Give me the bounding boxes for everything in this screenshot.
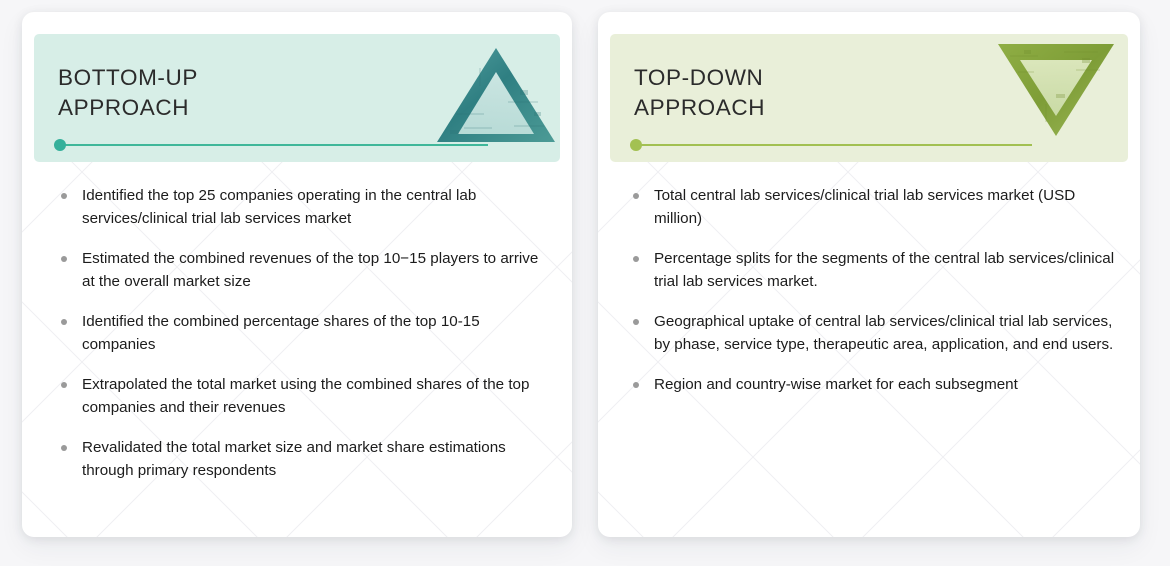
list-item-text: Percentage splits for the segments of th… xyxy=(654,250,1114,290)
list-item-text: Identified the combined percentage share… xyxy=(82,313,480,353)
top-down-header-dot xyxy=(630,139,642,151)
bullet-dot-icon xyxy=(61,382,67,388)
list-item-text: Revalidated the total market size and ma… xyxy=(82,439,506,479)
list-item-text: Extrapolated the total market using the … xyxy=(82,376,529,416)
bullet-dot-icon xyxy=(61,256,67,262)
top-down-bullet-list: Total central lab services/clinical tria… xyxy=(626,184,1124,413)
list-item: Extrapolated the total market using the … xyxy=(54,373,554,419)
approaches-panel: BOTTOM-UP APPROACH Identified the top 25… xyxy=(0,0,1170,566)
bullet-dot-icon xyxy=(633,256,639,262)
list-item: Revalidated the total market size and ma… xyxy=(54,436,554,482)
list-item-text: Estimated the combined revenues of the t… xyxy=(82,250,538,290)
bullet-dot-icon xyxy=(61,445,67,451)
list-item-text: Identified the top 25 companies operatin… xyxy=(82,187,476,227)
upward-triangle-icon xyxy=(434,42,558,146)
downward-triangle-icon xyxy=(994,36,1118,140)
bullet-dot-icon xyxy=(61,319,67,325)
top-down-card-header: TOP-DOWN APPROACH xyxy=(610,34,1128,162)
top-down-card-title: TOP-DOWN APPROACH xyxy=(634,63,765,123)
bullet-dot-icon xyxy=(633,319,639,325)
bottom-up-card-header: BOTTOM-UP APPROACH xyxy=(34,34,560,162)
list-item-text: Total central lab services/clinical tria… xyxy=(654,187,1075,227)
list-item-text: Geographical uptake of central lab servi… xyxy=(654,313,1113,353)
list-item: Total central lab services/clinical tria… xyxy=(626,184,1124,230)
list-item: Identified the top 25 companies operatin… xyxy=(54,184,554,230)
top-down-header-rule xyxy=(634,144,1032,146)
bottom-up-header-rule xyxy=(58,144,488,146)
top-down-approach-card: TOP-DOWN APPROACH Total central lab serv… xyxy=(598,12,1140,537)
list-item: Percentage splits for the segments of th… xyxy=(626,247,1124,293)
bullet-dot-icon xyxy=(633,193,639,199)
list-item-text: Region and country-wise market for each … xyxy=(654,376,1018,393)
bottom-up-card-title: BOTTOM-UP APPROACH xyxy=(58,63,198,123)
bottom-up-approach-card: BOTTOM-UP APPROACH Identified the top 25… xyxy=(22,12,572,537)
bullet-dot-icon xyxy=(61,193,67,199)
bottom-up-header-dot xyxy=(54,139,66,151)
bullet-dot-icon xyxy=(633,382,639,388)
list-item: Identified the combined percentage share… xyxy=(54,310,554,356)
list-item: Region and country-wise market for each … xyxy=(626,373,1124,396)
bottom-up-bullet-list: Identified the top 25 companies operatin… xyxy=(54,184,554,499)
list-item: Geographical uptake of central lab servi… xyxy=(626,310,1124,356)
list-item: Estimated the combined revenues of the t… xyxy=(54,247,554,293)
